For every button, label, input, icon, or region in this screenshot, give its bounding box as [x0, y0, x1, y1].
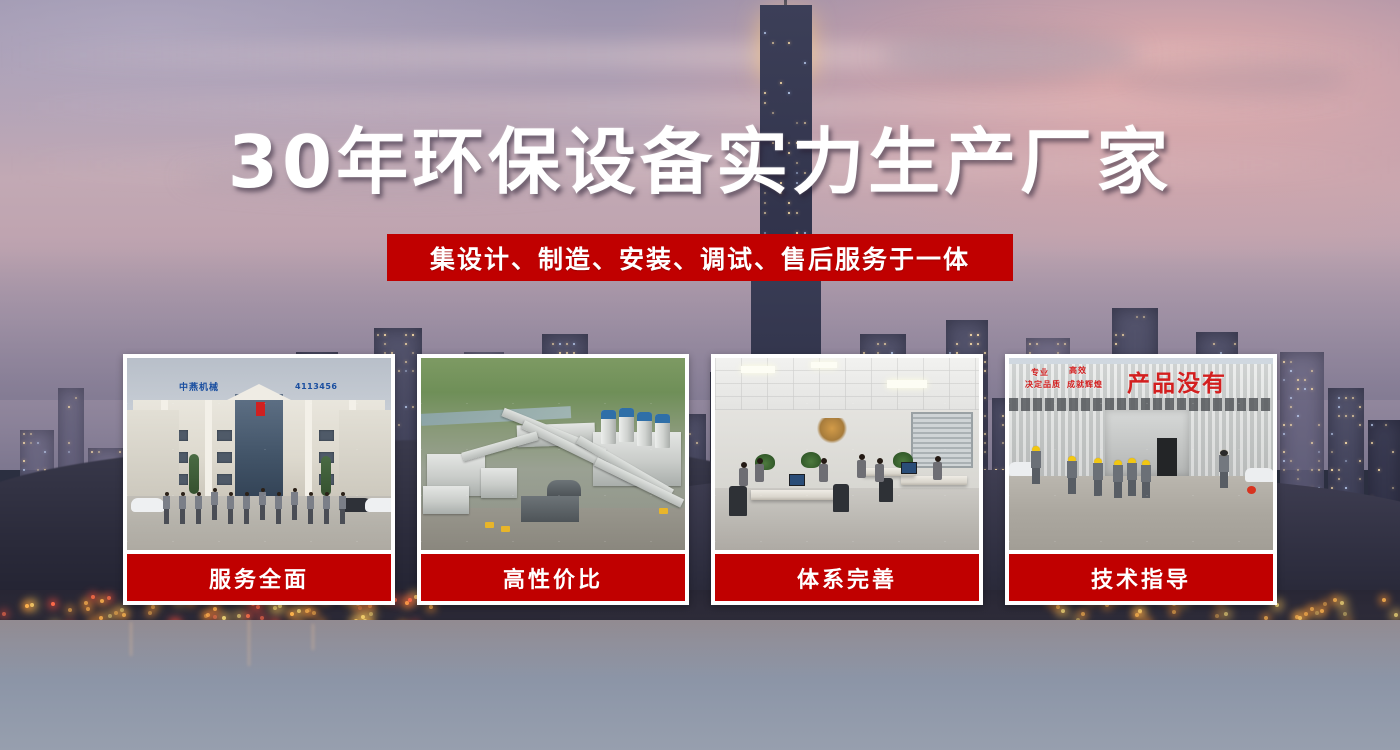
card-label-text: 高性价比: [503, 562, 603, 594]
factory-slogan-main: 产品没有: [1127, 364, 1227, 398]
card-photo-office-interior: [715, 358, 979, 550]
feature-card[interactable]: 高性价比: [417, 354, 689, 605]
hero-banner: 30年环保设备实力生产厂家 集设计、制造、安装、调试、售后服务于一体: [0, 0, 1400, 750]
page-title: 30年环保设备实力生产厂家: [0, 126, 1400, 198]
factory-slogan-4: 成就辉煌: [1067, 380, 1103, 390]
building-phone-text: 4113456: [295, 382, 337, 391]
factory-slogan-1: 专业: [1031, 368, 1049, 378]
card-label-text: 服务全面: [209, 562, 309, 594]
card-label-text: 技术指导: [1091, 562, 1191, 594]
card-label: 服务全面: [127, 554, 391, 601]
building-sign-text: 中燕机械: [179, 380, 219, 393]
tagline-text: 集设计、制造、安装、调试、售后服务于一体: [430, 240, 970, 276]
tagline-banner: 集设计、制造、安装、调试、售后服务于一体: [387, 234, 1013, 281]
card-label: 体系完善: [715, 554, 979, 601]
card-photo-aerial-plant: [421, 358, 685, 550]
card-label-text: 体系完善: [797, 562, 897, 594]
feature-card[interactable]: 产品没有 专业 高效 决定品质 成就辉煌: [1005, 354, 1277, 605]
feature-card-row: 中燕机械 4113456: [123, 354, 1277, 605]
factory-slogan-3: 决定品质: [1025, 380, 1061, 390]
card-photo-office-building: 中燕机械 4113456: [127, 358, 391, 550]
feature-card[interactable]: 中燕机械 4113456: [123, 354, 395, 605]
card-label: 技术指导: [1009, 554, 1273, 601]
river-water: [0, 620, 1400, 750]
factory-slogan-2: 高效: [1069, 366, 1087, 376]
card-photo-factory-workers: 产品没有 专业 高效 决定品质 成就辉煌: [1009, 358, 1273, 550]
card-label: 高性价比: [421, 554, 685, 601]
feature-card[interactable]: 体系完善: [711, 354, 983, 605]
water-reflection: [0, 620, 1400, 680]
